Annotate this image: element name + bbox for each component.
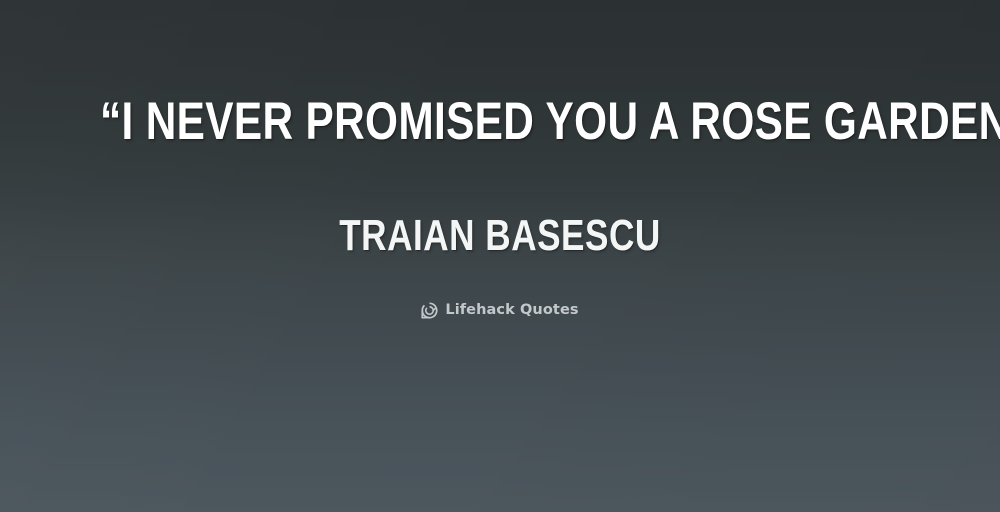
quote-card: “I NEVER PROMISED YOU A ROSE GARDEN.” TR…	[0, 0, 1000, 512]
quote-author-name: TRAIAN BASESCU	[100, 212, 900, 260]
watermark: Lifehack Quotes	[0, 302, 1000, 319]
quote-text: “I NEVER PROMISED YOU A ROSE GARDEN.”	[100, 94, 900, 150]
quote-card-content: “I NEVER PROMISED YOU A ROSE GARDEN.” TR…	[0, 0, 1000, 512]
watermark-label: Lifehack Quotes	[445, 302, 578, 319]
lifehack-spiral-logo-icon	[421, 302, 438, 319]
